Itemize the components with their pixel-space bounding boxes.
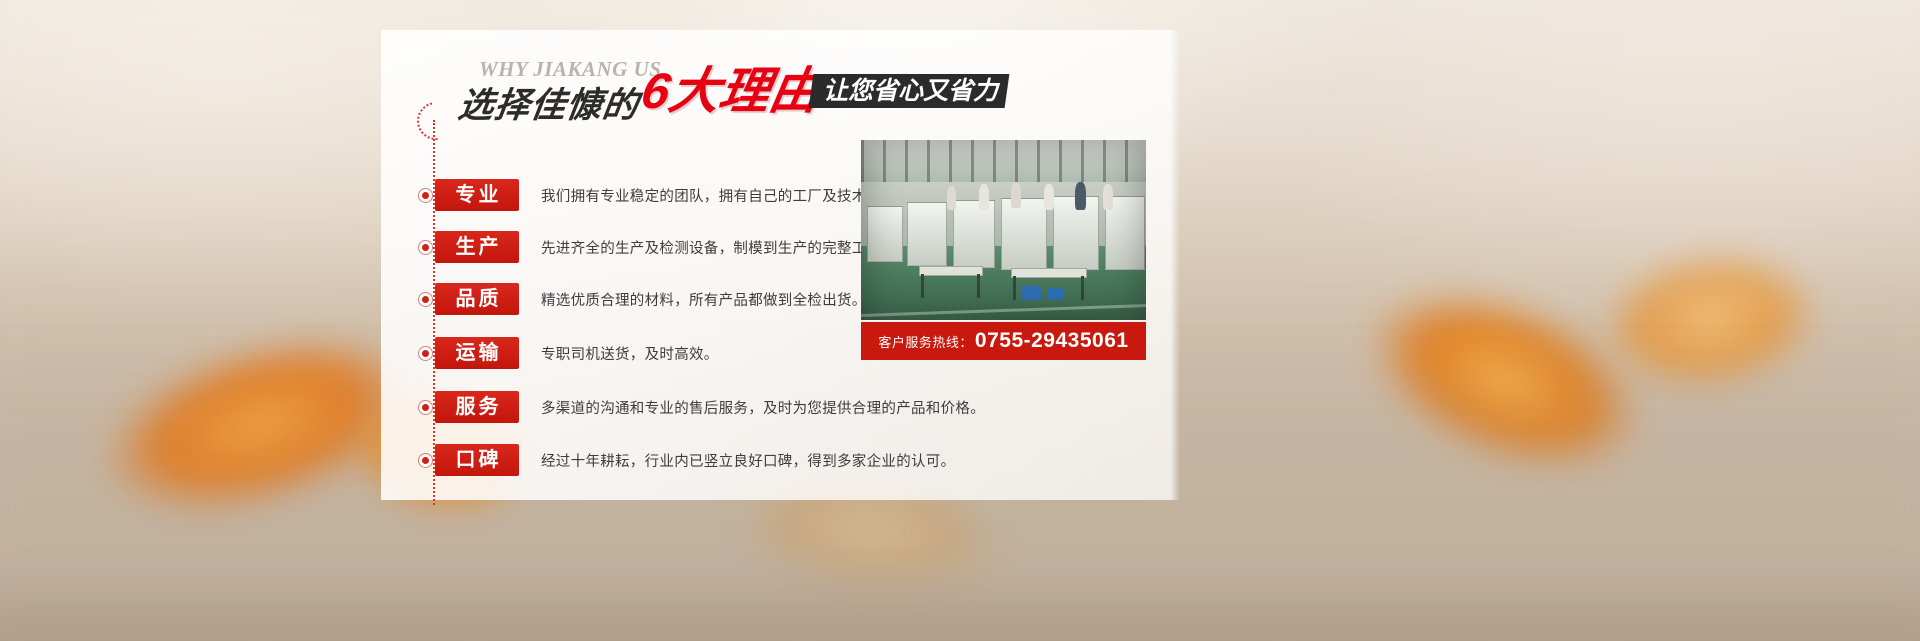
reason-badge: 服务	[435, 391, 519, 423]
bullet-dot-icon	[419, 401, 432, 414]
bullet-dot-icon	[419, 454, 432, 467]
reason-badge: 专业	[435, 179, 519, 211]
bullet-dot-icon	[419, 347, 432, 360]
bullet-dot-icon	[419, 189, 432, 202]
factory-photo	[861, 140, 1146, 320]
reason-badge: 品质	[435, 283, 519, 315]
hotline-number: 0755-29435061	[975, 329, 1129, 353]
photo-vignette	[861, 140, 1146, 320]
reason-row[interactable]: 口碑 经过十年耕耘，行业内已竖立良好口碑，得到多家企业的认可。	[419, 445, 955, 475]
reason-badge: 生产	[435, 231, 519, 263]
bullet-dot-icon	[419, 241, 432, 254]
reason-description: 先进齐全的生产及检测设备，制模到生产的完整工艺。	[541, 237, 896, 258]
reason-badge: 运输	[435, 337, 519, 369]
reason-row[interactable]: 运输 专职司机送货，及时高效。	[419, 338, 719, 368]
hotline-label: 客户服务热线：	[878, 332, 973, 351]
title-chinese-prefix: 选择佳慷的	[455, 77, 642, 128]
reason-row[interactable]: 服务 多渠道的沟通和专业的售后服务，及时为您提供合理的产品和价格。	[419, 392, 985, 422]
content-area: WHY JIAKANG US 选择佳慷的 6大理由 让您省心又省力 专业 我们拥…	[381, 30, 1181, 500]
hotline-banner: 客户服务热线： 0755-29435061	[861, 322, 1146, 360]
title-highlight: 6大理由	[638, 66, 825, 116]
bullet-dot-icon	[419, 293, 432, 306]
title-tagline: 让您省心又省力	[809, 74, 1010, 108]
reason-description: 精选优质合理的材料，所有产品都做到全检出货。	[541, 289, 867, 310]
reason-row[interactable]: 生产 先进齐全的生产及检测设备，制模到生产的完整工艺。	[419, 232, 896, 262]
reason-row[interactable]: 专业 我们拥有专业稳定的团队，拥有自己的工厂及技术。	[419, 180, 881, 210]
reason-description: 经过十年耕耘，行业内已竖立良好口碑，得到多家企业的认可。	[541, 450, 955, 471]
reason-row[interactable]: 品质 精选优质合理的材料，所有产品都做到全检出货。	[419, 284, 867, 314]
reason-description: 我们拥有专业稳定的团队，拥有自己的工厂及技术。	[541, 185, 881, 206]
title-tagline-text: 让您省心又省力	[823, 74, 998, 108]
reason-description: 多渠道的沟通和专业的售后服务，及时为您提供合理的产品和价格。	[541, 397, 985, 418]
reason-badge: 口碑	[435, 444, 519, 476]
reason-description: 专职司机送货，及时高效。	[541, 343, 719, 364]
